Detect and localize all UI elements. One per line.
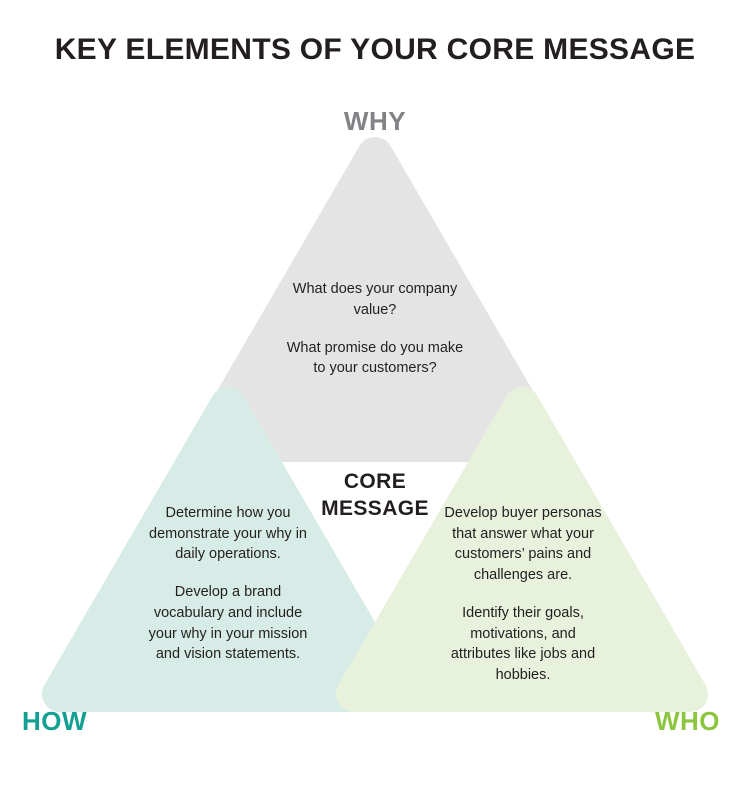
segment-text-who: Develop buyer personas that answer what … xyxy=(443,503,603,685)
segment-label-who: WHO xyxy=(655,706,720,737)
how-paragraph-1: Determine how you demonstrate your why i… xyxy=(148,503,308,565)
segment-label-why: WHY xyxy=(0,106,750,137)
segment-label-how: HOW xyxy=(22,706,87,737)
why-paragraph-1: What does your company value? xyxy=(282,279,468,320)
core-message-line-2: MESSAGE xyxy=(289,495,461,522)
who-paragraph-1: Develop buyer personas that answer what … xyxy=(443,503,603,585)
how-paragraph-2: Develop a brand vocabulary and include y… xyxy=(148,582,308,664)
who-paragraph-2: Identify their goals, motivations, and a… xyxy=(443,603,603,685)
segment-text-why: What does your company value? What promi… xyxy=(282,279,468,379)
core-message-label: CORE MESSAGE xyxy=(289,468,461,523)
why-paragraph-2: What promise do you make to your custome… xyxy=(282,338,468,379)
core-message-line-1: CORE xyxy=(289,468,461,495)
infographic-canvas: KEY ELEMENTS OF YOUR CORE MESSAGE WHY Wh… xyxy=(0,0,750,791)
segment-text-how: Determine how you demonstrate your why i… xyxy=(148,503,308,665)
